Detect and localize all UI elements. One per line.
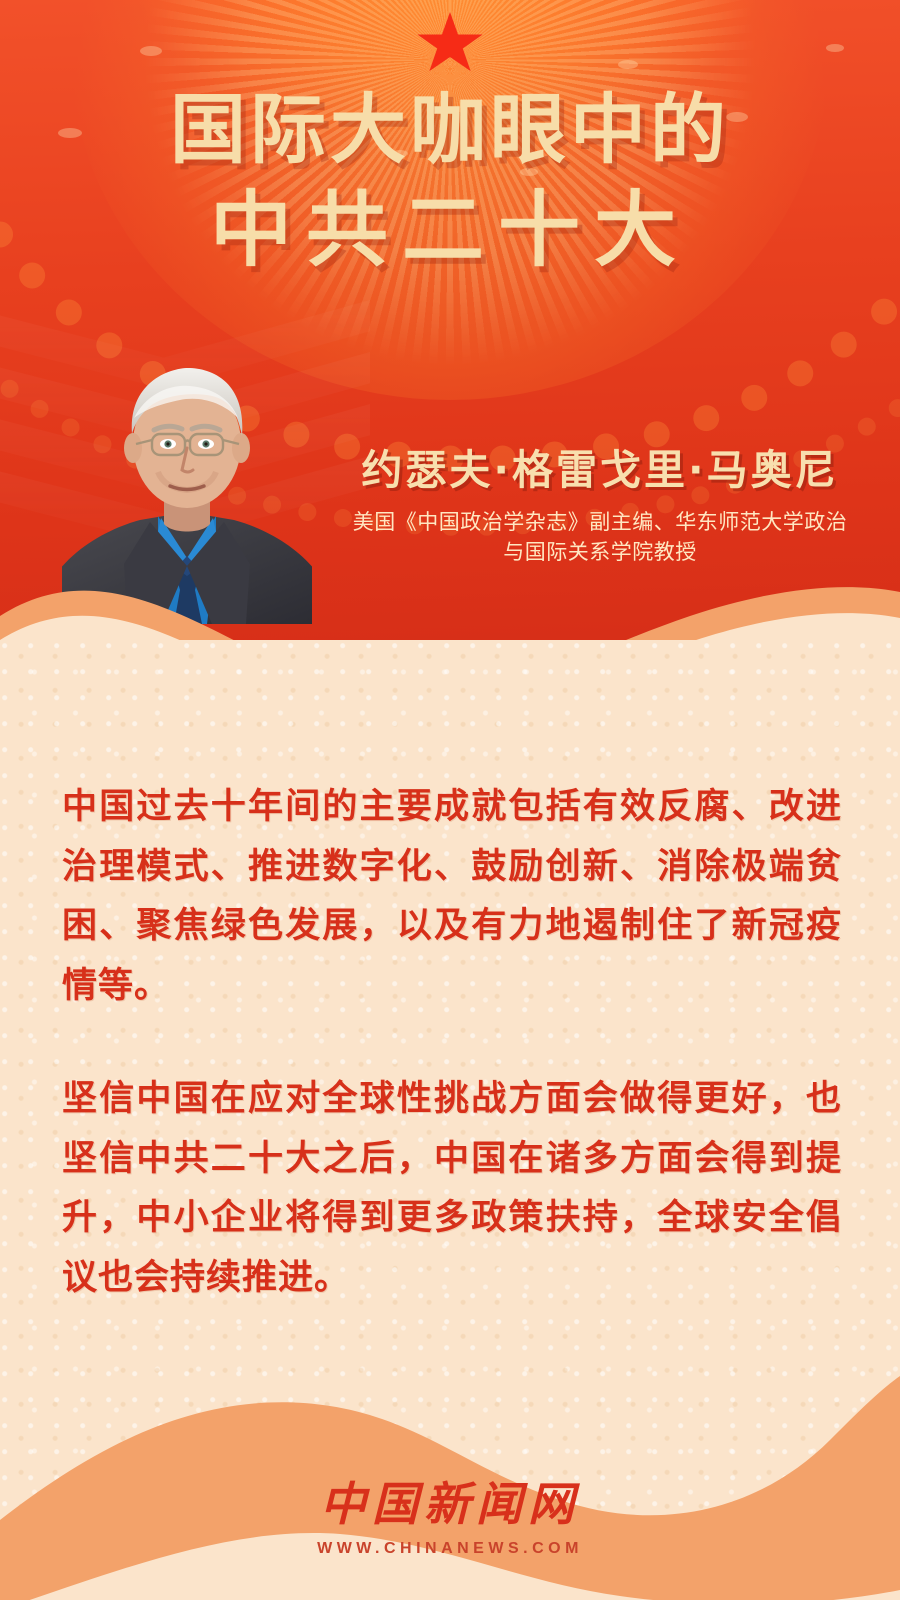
quote-paragraph-2: 坚信中国在应对全球性挑战方面会做得更好，也坚信中共二十大之后，中国在诸多方面会得… [62, 1070, 842, 1308]
quote-block: 中国过去十年间的主要成就包括有效反腐、改进治理模式、推进数字化、鼓励创新、消除极… [62, 778, 842, 1308]
chinanews-website: WWW.CHINANEWS.COM [0, 1540, 900, 1558]
title-line-1: 国际大咖眼中的 [0, 92, 900, 168]
affiliation-line-1: 美国《中国政治学杂志》副主编、华东师范大学政治 [330, 508, 870, 538]
speaker-name: 约瑟夫·格雷戈里·马奥尼 [330, 436, 870, 496]
speaker-affiliation: 美国《中国政治学杂志》副主编、华东师范大学政治 与国际关系学院教授 [330, 508, 870, 568]
footer-logo: 中国新闻网 WWW.CHINANEWS.COM [0, 1468, 900, 1558]
speaker-info: 约瑟夫·格雷戈里·马奥尼 美国《中国政治学杂志》副主编、华东师范大学政治 与国际… [330, 436, 870, 568]
portrait-photo [62, 352, 312, 624]
chinanews-logo-text: 中国新闻网 [0, 1468, 900, 1534]
quote-paragraph-1: 中国过去十年间的主要成就包括有效反腐、改进治理模式、推进数字化、鼓励创新、消除极… [62, 778, 842, 1016]
decorative-speck [826, 44, 844, 52]
poster-root: 国际大咖眼中的 中共二十大 [0, 0, 900, 1600]
decorative-speck [140, 46, 162, 56]
title-line-2: 中共二十大 [0, 190, 900, 272]
affiliation-line-2: 与国际关系学院教授 [330, 538, 870, 568]
decorative-speck [618, 60, 638, 69]
poster-title: 国际大咖眼中的 中共二十大 [0, 92, 900, 272]
